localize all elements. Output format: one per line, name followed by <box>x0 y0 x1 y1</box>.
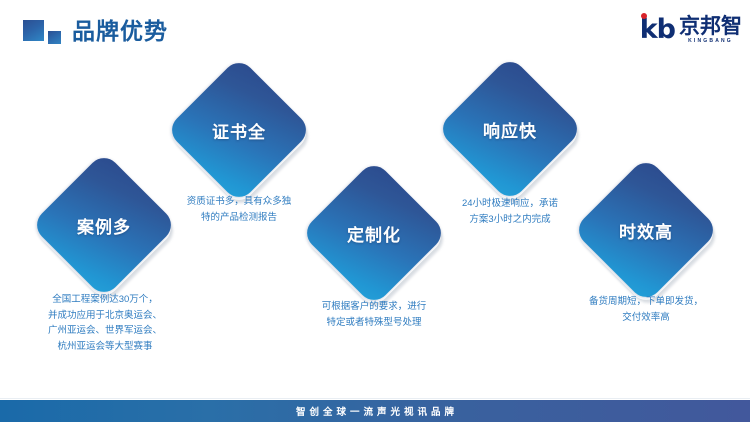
feature-diamond-1[interactable]: 案例多 <box>52 173 156 277</box>
caption-line: 全国工程案例达30万个， <box>10 292 200 308</box>
feature-label-3: 定制化 <box>322 181 426 285</box>
logo-dot-icon <box>641 13 647 19</box>
feature-diamond-5[interactable]: 时效高 <box>594 178 698 282</box>
caption-line: 交付效率高 <box>556 310 736 326</box>
feature-caption-1: 全国工程案例达30万个， 并成功应用于北京奥运会、 广州亚运会、世界军运会、 杭… <box>10 292 200 354</box>
caption-line: 特定或者特殊型号处理 <box>284 315 464 331</box>
logo-name-pinyin: KINGBANG <box>688 38 733 45</box>
header-square-small-icon <box>48 31 61 44</box>
feature-label-2: 证书全 <box>187 78 291 182</box>
caption-line: 并成功应用于北京奥运会、 <box>10 308 200 324</box>
footer-slogan: 智创全球一流声光视讯品牌 <box>0 400 750 422</box>
caption-line: 广州亚运会、世界军运会、 <box>10 323 200 339</box>
caption-line: 方案3小时之内完成 <box>420 212 600 228</box>
feature-diamond-4[interactable]: 响应快 <box>458 77 562 181</box>
logo-name-cn: 京邦智 <box>679 16 742 38</box>
feature-caption-5: 备货周期短，下单即发货， 交付效率高 <box>556 294 736 325</box>
feature-diamond-3[interactable]: 定制化 <box>322 181 426 285</box>
feature-caption-3: 可根据客户的要求，进行 特定或者特殊型号处理 <box>284 299 464 330</box>
feature-caption-2: 资质证书多，具有众多独 特的产品检测报告 <box>149 194 329 225</box>
slide-canvas: 品牌优势 kb 京邦智 KINGBANG 案例多 全国工程案例达30万个， 并成… <box>0 0 750 422</box>
logo-wordmark: 京邦智 KINGBANG <box>679 16 742 45</box>
feature-caption-4: 24小时极速响应，承诺 方案3小时之内完成 <box>420 196 600 227</box>
header-square-large-icon <box>23 20 44 41</box>
slide-footer: 智创全球一流声光视讯品牌 <box>0 399 750 422</box>
caption-line: 可根据客户的要求，进行 <box>284 299 464 315</box>
feature-label-4: 响应快 <box>458 77 562 181</box>
slide-header: 品牌优势 kb 京邦智 KINGBANG <box>0 0 750 58</box>
feature-label-5: 时效高 <box>594 178 698 282</box>
caption-line: 杭州亚运会等大型赛事 <box>10 339 200 355</box>
brand-logo: kb 京邦智 KINGBANG <box>640 14 742 46</box>
caption-line: 24小时极速响应，承诺 <box>420 196 600 212</box>
feature-label-1: 案例多 <box>52 173 156 277</box>
feature-diamond-2[interactable]: 证书全 <box>187 78 291 182</box>
page-title: 品牌优势 <box>72 14 168 48</box>
logo-mark: kb <box>640 16 675 44</box>
caption-line: 备货周期短，下单即发货， <box>556 294 736 310</box>
caption-line: 特的产品检测报告 <box>149 210 329 226</box>
caption-line: 资质证书多，具有众多独 <box>149 194 329 210</box>
